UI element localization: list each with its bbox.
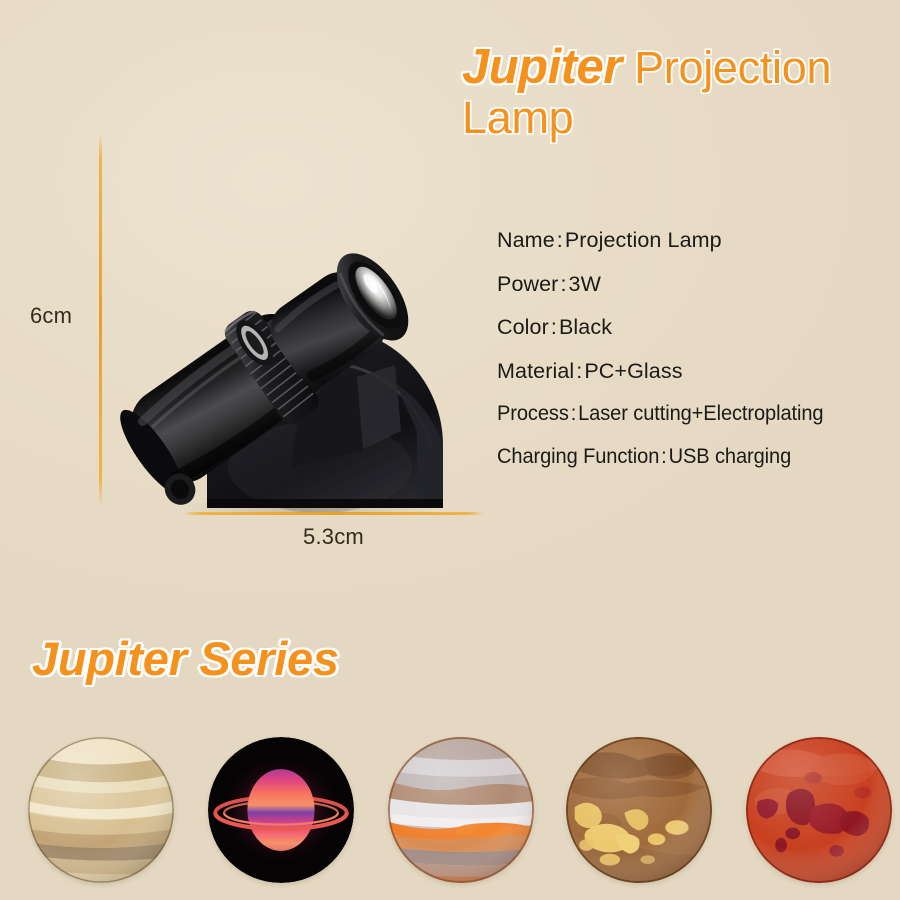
- title-rest-line-1: Projection: [622, 42, 831, 93]
- page-title-line-1: Jupiter Projection: [462, 42, 892, 94]
- spec-sep-name: :: [555, 228, 565, 252]
- spec-row-charging-function: Charging Function:USB charging: [497, 445, 871, 469]
- dimension-height-line: [99, 133, 102, 506]
- spec-row-process: Process:Laser cutting+Electroplating: [497, 402, 871, 426]
- spec-key-charging-function: Charging Function: [497, 445, 659, 468]
- planet-thumbnail-saturn-pink-rings[interactable]: [208, 737, 354, 883]
- jupiter-orange-bands-icon: [388, 737, 534, 883]
- page-title-line-2: Lamp: [462, 94, 892, 142]
- product-info-page: Jupiter Projection Lamp: [0, 0, 900, 900]
- spec-key-process: Process: [497, 402, 569, 425]
- spec-key-name: Name: [497, 228, 555, 252]
- specification-list: Name:Projection Lamp Power:3W Color:Blac…: [497, 228, 889, 487]
- product-photo-projection-lamp: [95, 115, 495, 515]
- spec-value-name: Projection Lamp: [565, 228, 722, 252]
- spec-key-power: Power: [497, 272, 558, 296]
- dimension-width-label: 5.3cm: [183, 524, 484, 550]
- spec-sep-material: :: [574, 359, 584, 383]
- spec-row-power: Power:3W: [497, 272, 889, 297]
- spec-sep-color: :: [549, 315, 559, 339]
- spec-value-process: Laser cutting+Electroplating: [578, 402, 823, 425]
- page-title: Jupiter Projection Lamp: [462, 42, 892, 142]
- spec-value-color: Black: [559, 315, 612, 339]
- saturn-pink-rings-icon: [208, 737, 354, 883]
- mars-red-icon: [746, 737, 892, 883]
- series-heading: Jupiter Series: [32, 631, 339, 686]
- dimension-width-line: [183, 512, 484, 515]
- spec-value-charging-function: USB charging: [669, 445, 792, 468]
- planet-thumbnail-jupiter-cream-bands[interactable]: [28, 737, 174, 883]
- title-brand-word: Jupiter: [462, 40, 622, 94]
- spec-key-color: Color: [497, 315, 549, 339]
- io-moon-icon: [566, 737, 712, 883]
- planet-thumbnail-io-moon[interactable]: [566, 737, 712, 883]
- spec-row-name: Name:Projection Lamp: [497, 228, 889, 253]
- spec-row-material: Material:PC+Glass: [497, 359, 889, 384]
- spec-value-material: PC+Glass: [584, 359, 682, 383]
- spec-value-power: 3W: [569, 272, 601, 296]
- dimension-height-label: 6cm: [30, 303, 72, 329]
- lamp-illustration: [95, 115, 495, 515]
- spec-sep-process: :: [569, 402, 578, 425]
- spec-row-color: Color:Black: [497, 315, 889, 340]
- planet-thumbnail-row: [0, 737, 900, 887]
- jupiter-cream-bands-icon: [28, 737, 174, 883]
- planet-thumbnail-jupiter-orange-bands[interactable]: [388, 737, 534, 883]
- spec-sep-power: :: [558, 272, 568, 296]
- spec-key-material: Material: [497, 359, 574, 383]
- planet-thumbnail-mars-red[interactable]: [746, 737, 892, 883]
- spec-sep-charging-function: :: [659, 445, 668, 468]
